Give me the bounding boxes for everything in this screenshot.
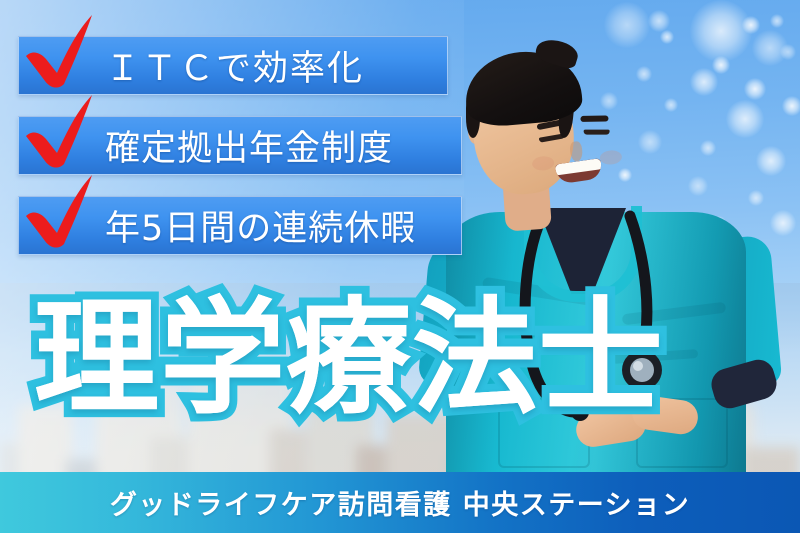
benefit-badge-pension-label: 確定拠出年金制度 xyxy=(105,120,393,171)
benefit-badge-pension: 確定拠出年金制度 xyxy=(18,116,462,175)
page-title: 理学療法士 xyxy=(34,296,664,421)
nose xyxy=(569,141,583,162)
job-ad-banner: ＩＴＣで効率化 確定拠出年金制度 年5日間の連続休暇 理学療法士 理学療法士 グ xyxy=(0,0,800,533)
smiling-mouth xyxy=(555,158,603,184)
benefit-badge-itc-label: ＩＴＣで効率化 xyxy=(105,40,364,91)
organization-name: グッドライフケア訪問看護 中央ステーション xyxy=(110,483,690,522)
teeth xyxy=(555,158,602,175)
benefit-badge-itc: ＩＴＣで効率化 xyxy=(18,36,448,95)
benefit-badge-holiday-label: 年5日間の連続休暇 xyxy=(105,200,416,251)
hair xyxy=(462,47,584,129)
eyebrow-right xyxy=(580,115,608,121)
cheek-left xyxy=(532,155,555,171)
cheek-right xyxy=(599,150,622,166)
eye-right xyxy=(584,130,610,135)
benefit-badge-holiday: 年5日間の連続休暇 xyxy=(18,196,462,255)
organization-bar: グッドライフケア訪問看護 中央ステーション xyxy=(0,472,800,533)
